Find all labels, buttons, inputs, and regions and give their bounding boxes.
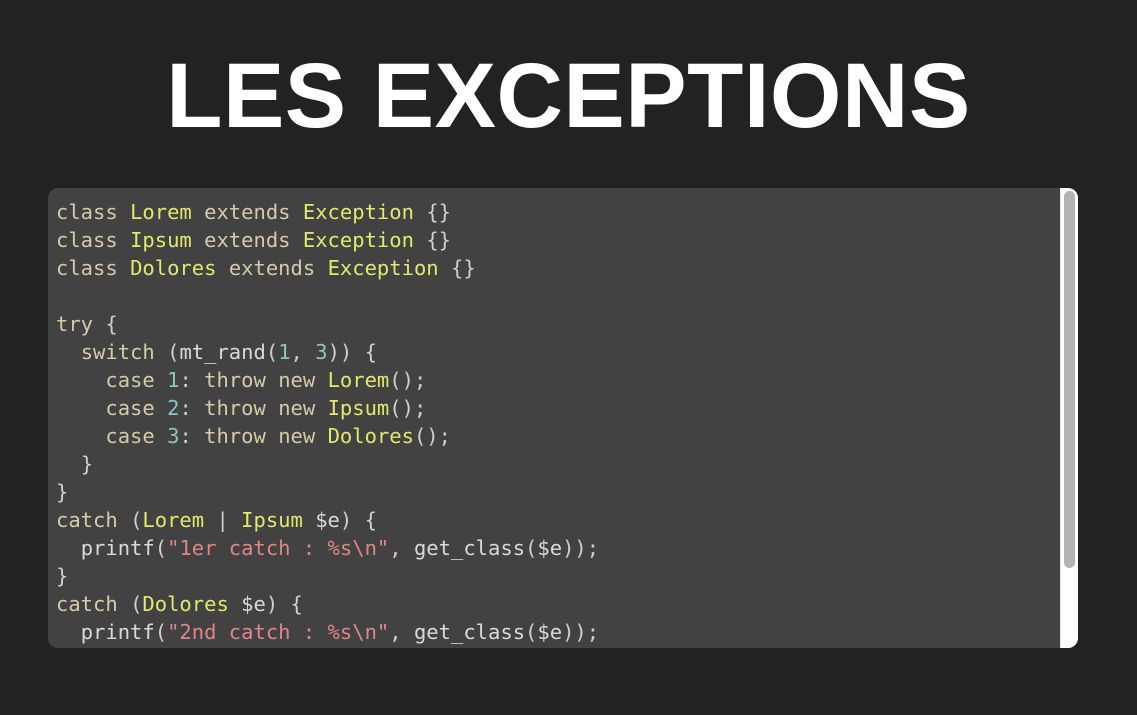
code-token-plain [155, 424, 167, 448]
code-token-kw: case [105, 396, 154, 420]
code-token-plain [291, 228, 303, 252]
code-token-punc: : [179, 424, 204, 448]
code-token-punc: ( [155, 536, 167, 560]
code-token-cls: Ipsum [241, 508, 303, 532]
code-token-punc: ( [525, 620, 537, 644]
code-token-plain [56, 284, 68, 308]
code-token-punc: ( [130, 508, 142, 532]
code-line [56, 282, 1060, 310]
code-token-kw: throw [204, 368, 266, 392]
code-token-kw: new [278, 424, 315, 448]
code-token-punc: , [291, 340, 316, 364]
code-token-plain [192, 200, 204, 224]
code-token-punc: , [389, 536, 414, 560]
code-token-cls: Lorem [328, 368, 390, 392]
code-token-punc: : [179, 396, 204, 420]
code-line: case 3: throw new Dolores(); [56, 422, 1060, 450]
code-token-num: 1 [167, 368, 179, 392]
code-token-var: $e [537, 620, 562, 644]
code-token-plain [315, 256, 327, 280]
code-token-cls: Lorem [142, 508, 204, 532]
code-line: class Dolores extends Exception {} [56, 254, 1060, 282]
code-token-plain [155, 396, 167, 420]
code-token-var: $e [241, 592, 266, 616]
code-line: class Ipsum extends Exception {} [56, 226, 1060, 254]
code-token-fn: mt_rand [179, 340, 265, 364]
code-token-plain [192, 228, 204, 252]
code-token-punc: )) [328, 340, 365, 364]
code-token-punc: ) [340, 508, 365, 532]
code-token-plain [315, 424, 327, 448]
code-token-plain [56, 340, 81, 364]
code-token-cls: Dolores [328, 424, 414, 448]
code-token-punc: { [365, 340, 377, 364]
code-token-plain [118, 256, 130, 280]
code-token-plain [266, 424, 278, 448]
code-line: printf("2nd catch : %s\n", get_class($e)… [56, 618, 1060, 646]
code-token-punc: { [291, 592, 303, 616]
vertical-scrollbar[interactable] [1060, 188, 1078, 648]
code-token-punc: (); [389, 368, 426, 392]
code-line: case 2: throw new Ipsum(); [56, 394, 1060, 422]
code-token-plain [56, 368, 105, 392]
code-token-punc: : [179, 368, 204, 392]
code-token-punc: (); [414, 424, 451, 448]
code-token-punc: )); [562, 620, 599, 644]
code-token-punc: | [204, 508, 241, 532]
scrollbar-thumb[interactable] [1064, 191, 1075, 568]
code-token-fn: get_class [414, 536, 525, 560]
code-token-plain [303, 508, 315, 532]
code-token-punc: {} [426, 228, 451, 252]
code-token-kw: throw [204, 396, 266, 420]
code-token-plain [315, 368, 327, 392]
code-token-plain [414, 228, 426, 252]
code-token-kw: class [56, 200, 118, 224]
code-token-cls: Lorem [130, 200, 192, 224]
code-token-plain [93, 312, 105, 336]
code-line: catch (Dolores $e) { [56, 590, 1060, 618]
code-token-punc: ( [130, 592, 142, 616]
code-token-plain [118, 508, 130, 532]
code-token-plain [315, 396, 327, 420]
code-token-kw: new [278, 396, 315, 420]
code-token-kw: class [56, 228, 118, 252]
code-scroll-area[interactable]: class Lorem extends Exception {}class Ip… [48, 188, 1060, 648]
code-token-str: "2nd catch : %s\n" [167, 620, 389, 644]
code-token-kw: try [56, 312, 93, 336]
code-token-var: $e [315, 508, 340, 532]
code-token-cls: Dolores [142, 592, 228, 616]
code-token-punc: ( [155, 620, 167, 644]
code-token-cls: Exception [303, 228, 414, 252]
code-token-plain [118, 200, 130, 224]
code-token-punc: {} [451, 256, 476, 280]
code-line: try { [56, 310, 1060, 338]
code-token-plain [56, 424, 105, 448]
code-token-punc: ( [525, 536, 537, 560]
code-token-kw: extends [204, 200, 290, 224]
code-token-plain [266, 396, 278, 420]
code-token-punc: { [105, 312, 117, 336]
code-token-cls: Exception [328, 256, 439, 280]
code-token-plain [229, 592, 241, 616]
code-token-plain [56, 536, 81, 560]
code-line: } [56, 562, 1060, 590]
code-token-punc: ( [167, 340, 179, 364]
code-token-plain [56, 396, 105, 420]
code-token-str: "1er catch : %s\n" [167, 536, 389, 560]
code-token-punc: (); [389, 396, 426, 420]
code-line: } [56, 478, 1060, 506]
code-token-kw: catch [56, 592, 118, 616]
code-token-kw: case [105, 424, 154, 448]
code-block: class Lorem extends Exception {}class Ip… [56, 198, 1060, 646]
code-token-plain [56, 452, 81, 476]
code-token-plain [155, 340, 167, 364]
code-line: } [56, 450, 1060, 478]
code-token-kw: throw [204, 424, 266, 448]
code-token-plain [118, 228, 130, 252]
code-token-kw: new [278, 368, 315, 392]
code-token-fn: get_class [414, 620, 525, 644]
code-token-punc: { [365, 508, 377, 532]
code-token-fn: printf [81, 620, 155, 644]
code-token-plain [439, 256, 451, 280]
code-token-kw: extends [204, 228, 290, 252]
code-token-plain [291, 200, 303, 224]
code-token-num: 1 [278, 340, 290, 364]
code-token-plain [118, 592, 130, 616]
code-token-num: 3 [167, 424, 179, 448]
code-token-cls: Ipsum [328, 396, 390, 420]
code-token-num: 2 [167, 396, 179, 420]
code-panel: class Lorem extends Exception {}class Ip… [48, 188, 1078, 648]
code-token-punc: ) [266, 592, 291, 616]
code-token-punc: ( [266, 340, 278, 364]
code-token-plain [216, 256, 228, 280]
code-token-plain [56, 620, 81, 644]
code-token-kw: catch [56, 508, 118, 532]
code-token-kw: case [105, 368, 154, 392]
code-token-punc: )); [562, 536, 599, 560]
code-token-punc: {} [426, 200, 451, 224]
code-token-punc: , [389, 620, 414, 644]
code-line: catch (Lorem | Ipsum $e) { [56, 506, 1060, 534]
code-token-plain [414, 200, 426, 224]
code-line: switch (mt_rand(1, 3)) { [56, 338, 1060, 366]
code-token-num: 3 [315, 340, 327, 364]
code-token-cls: Ipsum [130, 228, 192, 252]
code-token-punc: } [56, 480, 68, 504]
code-token-fn: printf [81, 536, 155, 560]
code-line: printf("1er catch : %s\n", get_class($e)… [56, 534, 1060, 562]
code-token-kw: extends [229, 256, 315, 280]
code-line: class Lorem extends Exception {} [56, 198, 1060, 226]
code-token-plain [266, 368, 278, 392]
slide: LES EXCEPTIONS class Lorem extends Excep… [0, 0, 1137, 715]
code-token-var: $e [537, 536, 562, 560]
code-token-cls: Dolores [130, 256, 216, 280]
code-line: case 1: throw new Lorem(); [56, 366, 1060, 394]
code-token-punc: } [56, 564, 68, 588]
code-token-punc: } [81, 452, 93, 476]
code-token-kw: class [56, 256, 118, 280]
code-token-plain [155, 368, 167, 392]
code-token-cls: Exception [303, 200, 414, 224]
page-title: LES EXCEPTIONS [0, 44, 1137, 148]
code-token-kw: switch [81, 340, 155, 364]
